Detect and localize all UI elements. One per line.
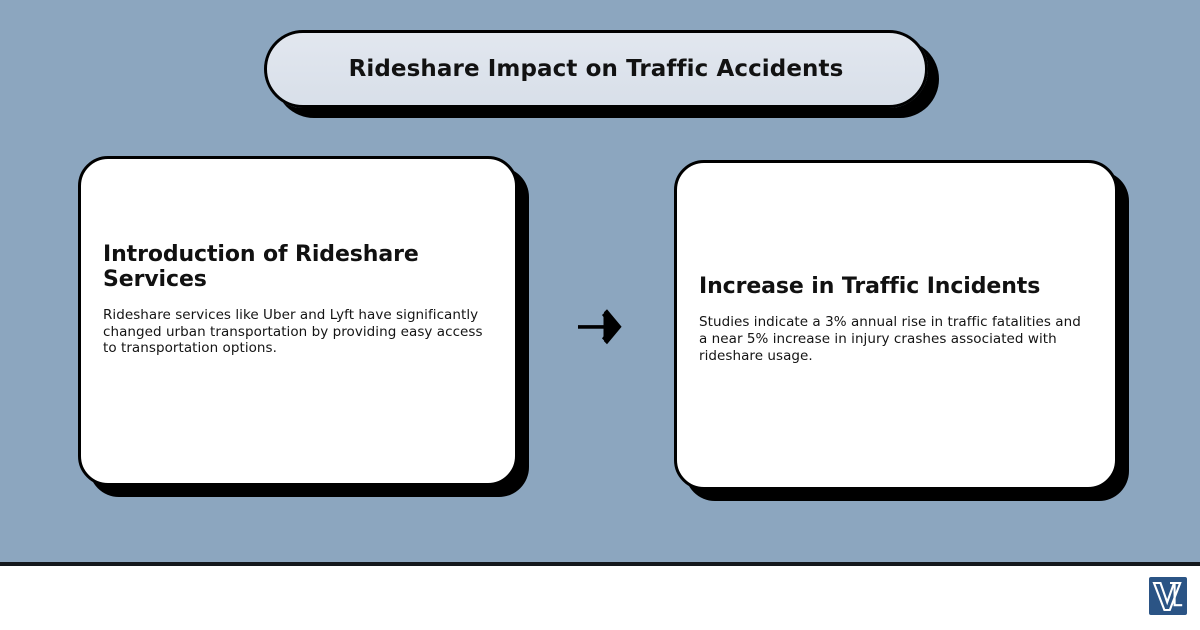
flow-step-card-1-body: Rideshare services like Uber and Lyft ha… — [103, 307, 493, 358]
infographic-canvas: Rideshare Impact on Traffic Accidents In… — [0, 0, 1200, 630]
page-title-pill: Rideshare Impact on Traffic Accidents — [264, 30, 928, 108]
flow-step-card-1-heading: Introduction of Rideshare Services — [103, 243, 493, 293]
footer-bar — [0, 562, 1200, 630]
flow-step-card-2-heading: Increase in Traffic Incidents — [699, 275, 1093, 300]
flow-step-card-2: Increase in Traffic Incidents Studies in… — [674, 160, 1118, 490]
arrow-right-icon — [572, 303, 624, 351]
flow-step-card-2-body: Studies indicate a 3% annual rise in tra… — [699, 314, 1093, 365]
page-title: Rideshare Impact on Traffic Accidents — [325, 56, 868, 82]
flow-step-card-1: Introduction of Rideshare Services Rides… — [78, 156, 518, 486]
vl-monogram-logo — [1148, 576, 1188, 616]
flow-step-card-1-content: Introduction of Rideshare Services Rides… — [81, 243, 515, 357]
flow-step-card-2-content: Increase in Traffic Incidents Studies in… — [677, 275, 1115, 364]
